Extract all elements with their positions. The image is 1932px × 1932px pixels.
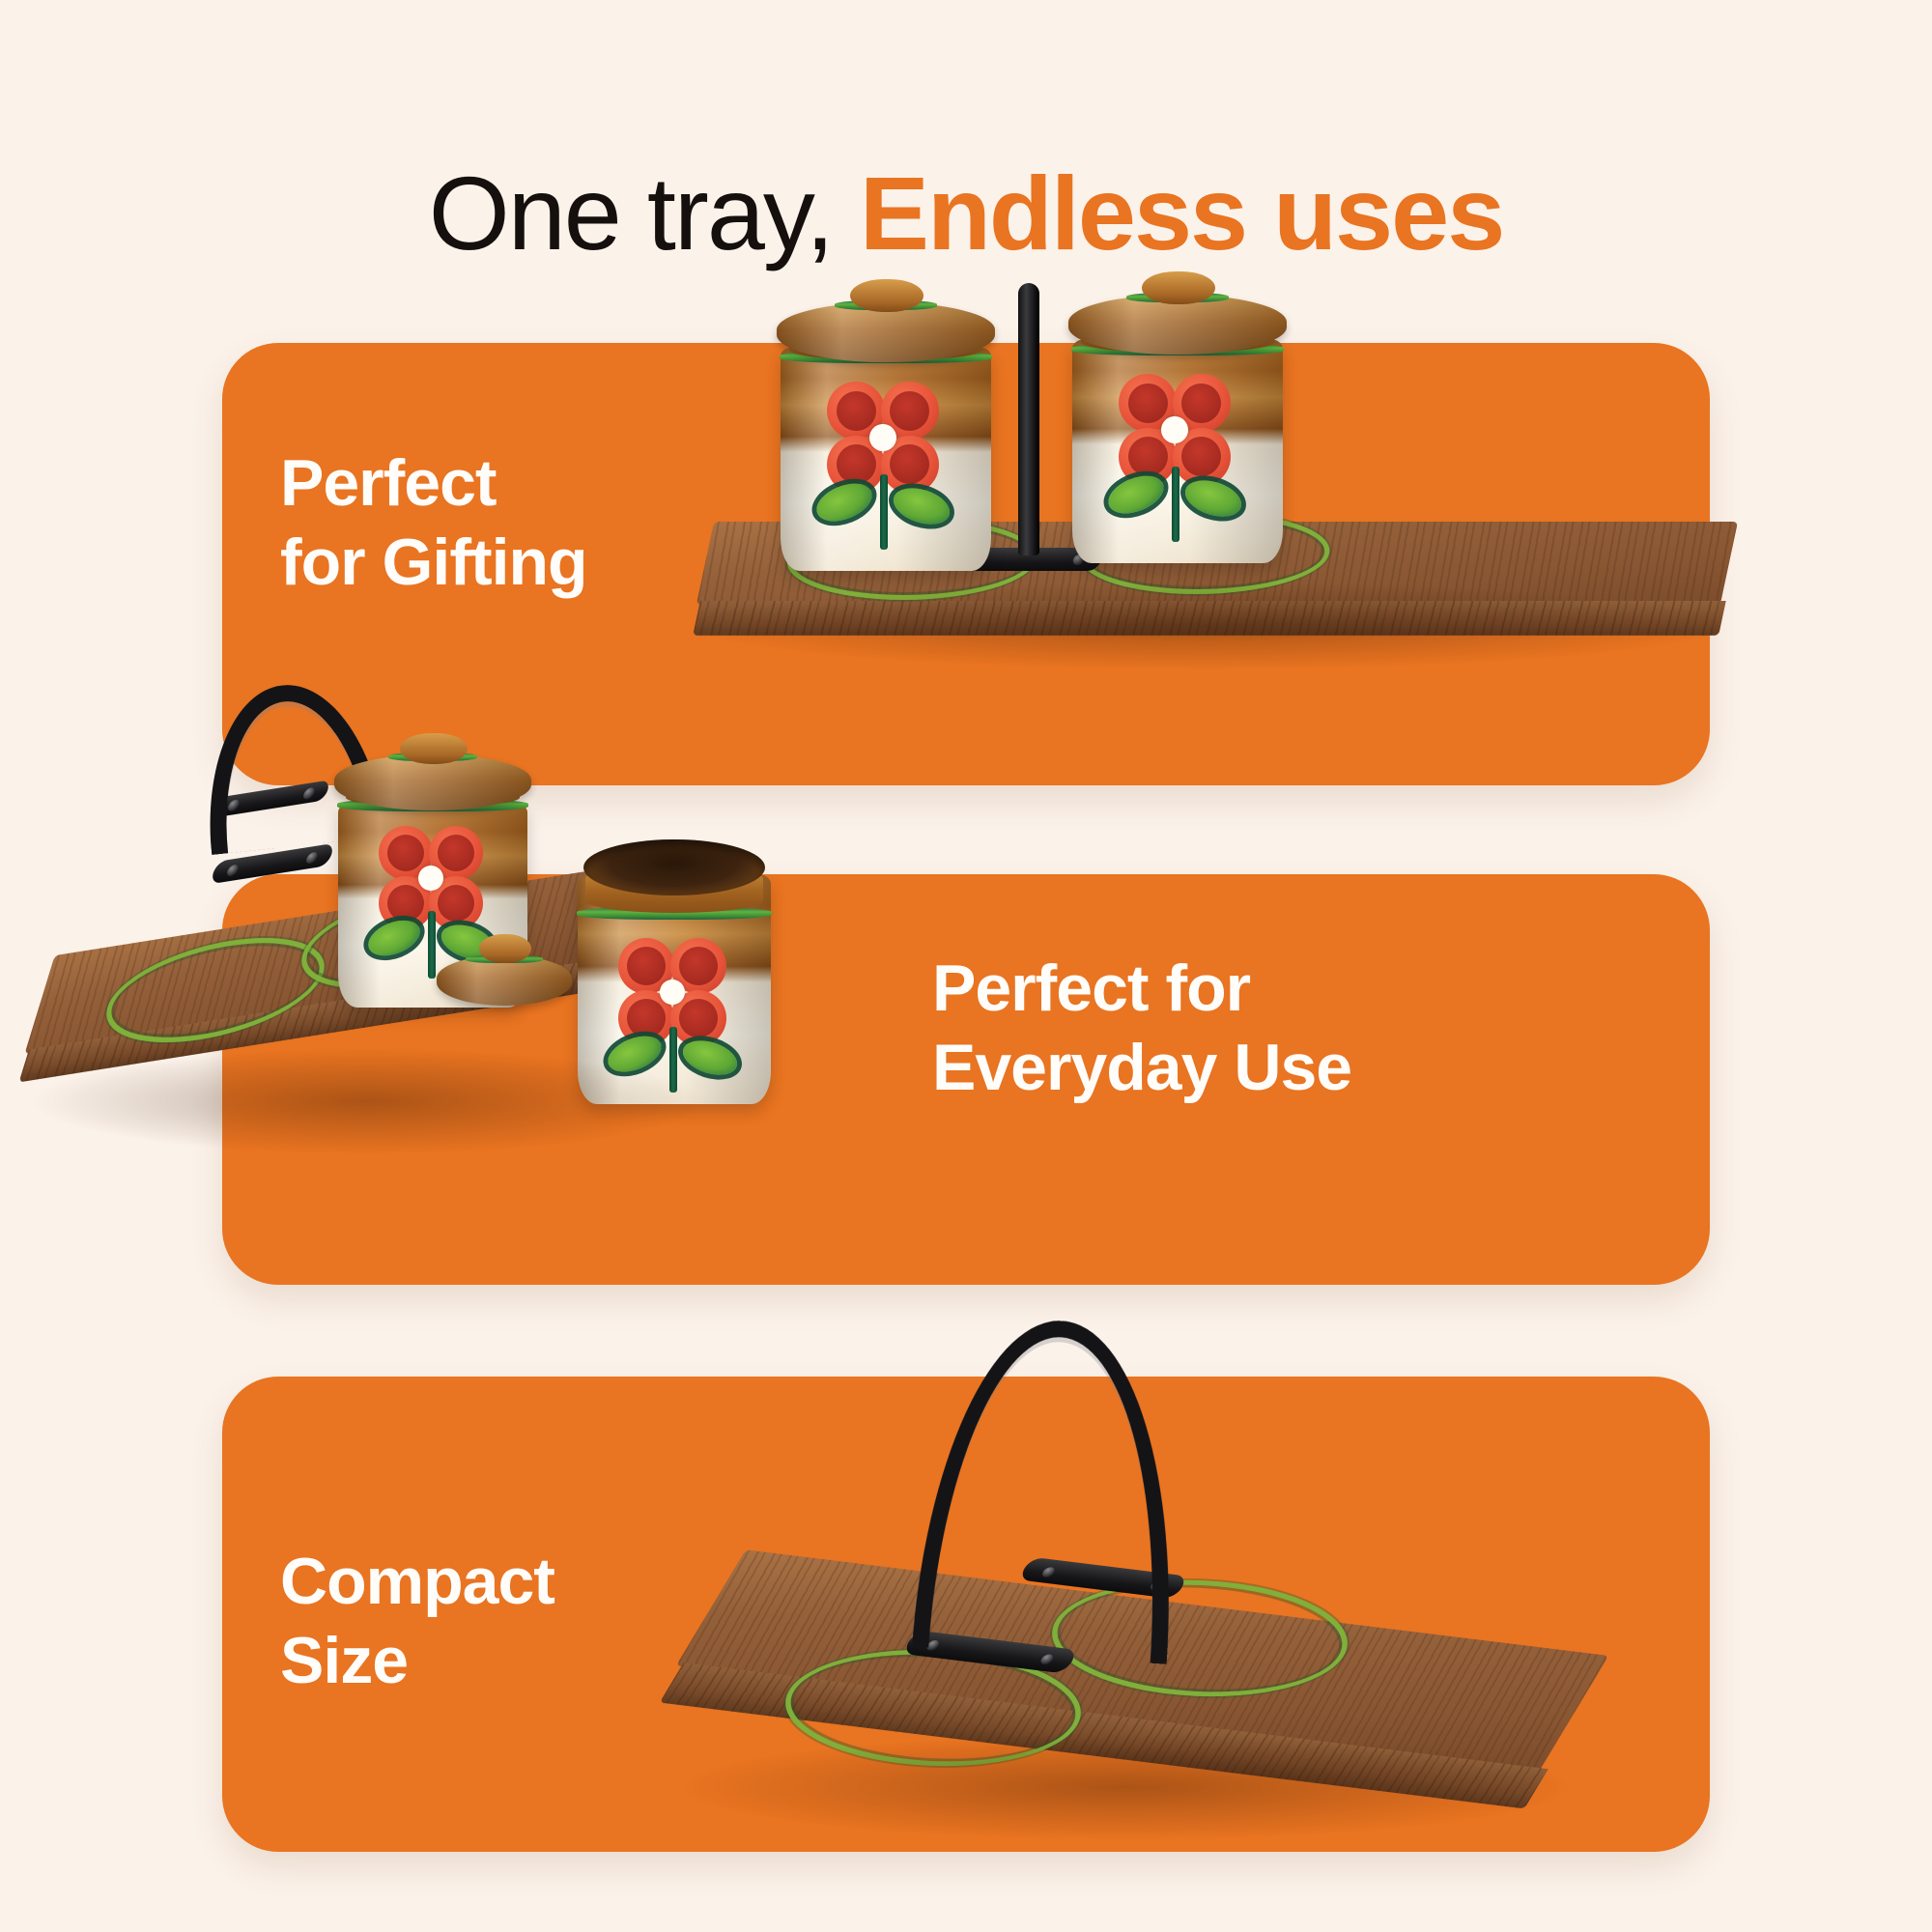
infographic-canvas: One tray, Endless uses Perfect for Gifti… <box>0 0 1932 1932</box>
handle-base-plate-back <box>212 780 330 818</box>
feature-card-label: Compact Size <box>280 1543 554 1700</box>
feature-card-perfect-for-gifting: Perfect for Gifting <box>222 343 1710 785</box>
feature-card-label: Perfect for Everyday Use <box>932 950 1351 1107</box>
page-title: One tray, Endless uses <box>0 158 1932 268</box>
feature-card-compact-size: Compact Size <box>222 1377 1710 1852</box>
feature-card-perfect-for-everyday-use: Perfect for Everyday Use <box>222 874 1710 1285</box>
feature-card-label: Perfect for Gifting <box>280 444 587 602</box>
headline-plain-text: One tray, <box>429 155 860 271</box>
headline-accent-text: Endless uses <box>860 155 1503 271</box>
